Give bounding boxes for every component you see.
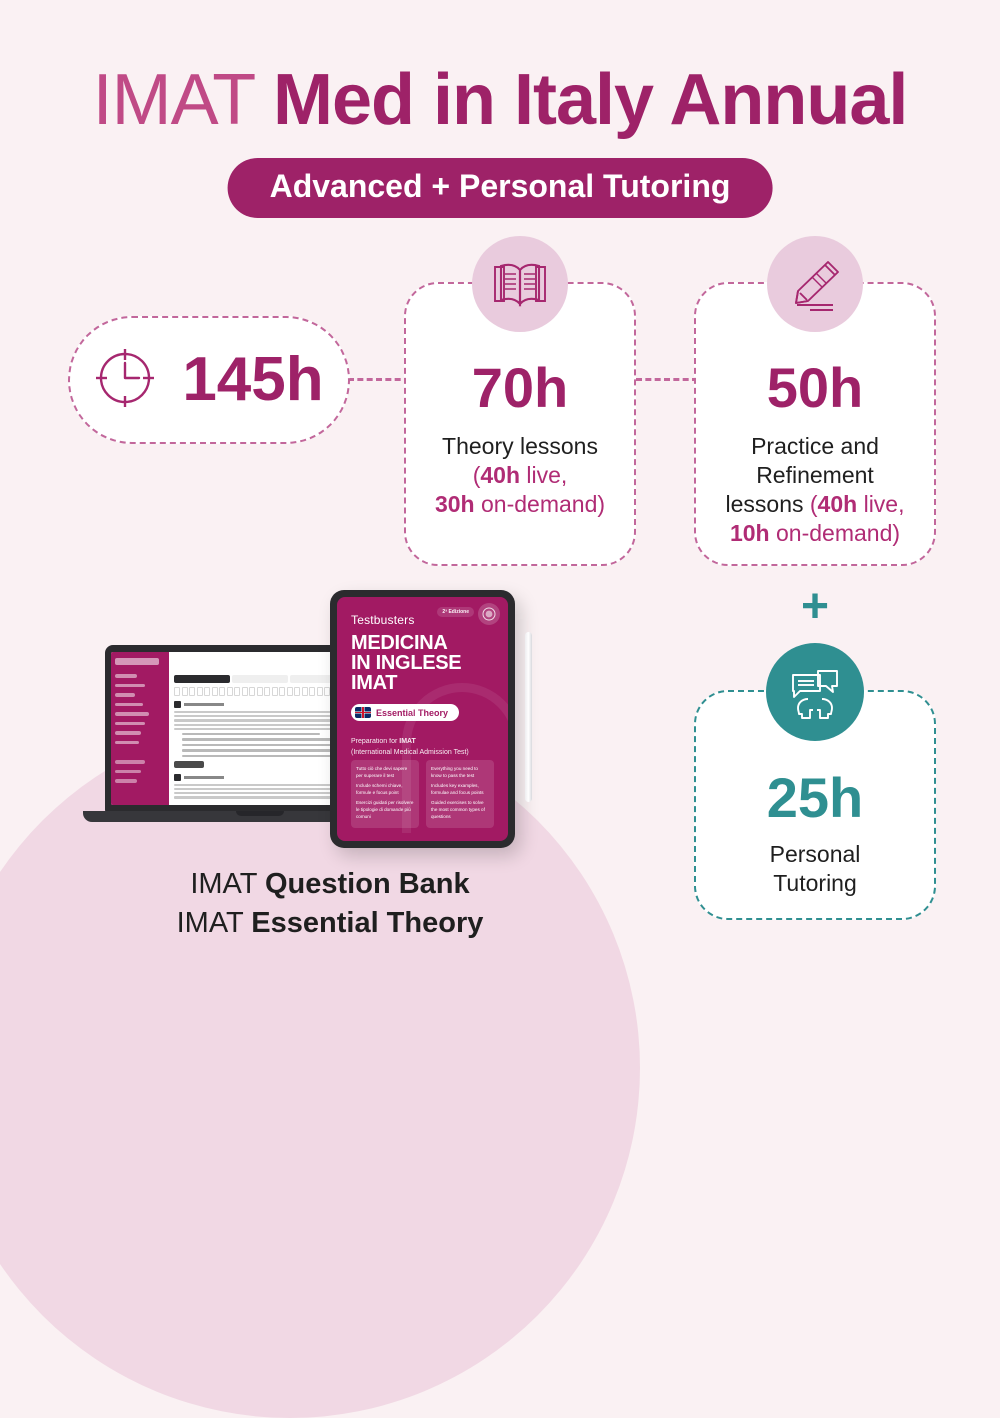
nav-item	[115, 731, 141, 735]
device-caption: IMAT Question Bank IMAT Essential Theory	[90, 865, 570, 943]
feature-item: Esercizi guidati per risolvere le tipolo…	[356, 799, 414, 820]
book-title-line1: MEDICINA	[351, 632, 448, 654]
book-prep-line2: (International Medical Admission Test)	[351, 749, 469, 756]
q	[189, 687, 195, 696]
app-nav-secondary	[115, 760, 165, 783]
card-practice-ondemand-hours: 10h	[730, 520, 770, 546]
q	[272, 687, 278, 696]
nav-item	[115, 674, 137, 678]
open-book-icon	[472, 236, 568, 332]
book-feature-box-italian: Tutto ciò che devi sapere per superare i…	[351, 760, 419, 828]
total-hours-value: 145h	[182, 349, 323, 411]
q	[227, 687, 233, 696]
subtitle-badge: Advanced + Personal Tutoring	[228, 158, 773, 218]
q	[294, 687, 300, 696]
q	[279, 687, 285, 696]
q	[309, 687, 315, 696]
nav-item	[115, 770, 141, 774]
card-practice-title-line2: Refinement	[756, 462, 874, 488]
q	[317, 687, 323, 696]
q	[302, 687, 308, 696]
infographic-canvas: IMAT Med in Italy Annual Advanced + Pers…	[0, 0, 1000, 1000]
q	[287, 687, 293, 696]
tablet-mockup: 2ª Edizione Testbusters MEDICINA IN INGL…	[330, 590, 515, 848]
card-practice-ondemand-label: on-demand)	[770, 520, 900, 546]
book-cover: 2ª Edizione Testbusters MEDICINA IN INGL…	[337, 597, 508, 841]
page-title-light: IMAT	[93, 60, 254, 140]
card-practice-lessons: 50h Practice and Refinement lessons (40h…	[694, 282, 936, 566]
book-prep-prefix: Preparation for	[351, 738, 399, 745]
book-feature-boxes: Tutto ciò che devi sapere per superare i…	[351, 760, 494, 828]
stylus-pen	[525, 632, 532, 802]
q	[249, 687, 255, 696]
book-preparation-text: Preparation for IMAT (International Medi…	[351, 736, 494, 758]
q	[257, 687, 263, 696]
q	[264, 687, 270, 696]
caption-line2-reg: IMAT	[177, 907, 252, 939]
page-title: IMAT Med in Italy Annual	[0, 58, 1000, 142]
feature-item: Guided exercises to solve the most commo…	[431, 799, 489, 820]
q	[242, 687, 248, 696]
book-prep-bold: IMAT	[399, 738, 416, 745]
nav-item	[115, 712, 149, 716]
q	[219, 687, 225, 696]
pencil-icon	[767, 236, 863, 332]
q	[212, 687, 218, 696]
tab	[232, 675, 288, 683]
tab	[174, 675, 230, 683]
nav-item	[115, 779, 137, 783]
app-logo	[115, 658, 159, 665]
card-practice-paren: (	[810, 491, 818, 517]
caption-line1-reg: IMAT	[190, 868, 265, 900]
app-sidebar	[111, 652, 169, 805]
clock-icon	[94, 347, 156, 414]
book-seal-icon	[478, 603, 500, 625]
feature-item: Include schemi chiave, formule e focus p…	[356, 782, 414, 796]
caption-line2-bold: Essential Theory	[251, 907, 483, 939]
page-title-bold: Med in Italy Annual	[273, 60, 907, 140]
app-nav-primary	[115, 674, 165, 744]
q	[204, 687, 210, 696]
plus-icon: +	[801, 583, 829, 631]
card-tutoring-hours: 25h	[696, 770, 934, 826]
book-edition-badge: 2ª Edizione	[437, 607, 474, 617]
reveal-answer-button[interactable]	[174, 761, 204, 768]
card-theory-hours: 70h	[406, 360, 634, 416]
card-practice-title-line1: Practice and	[751, 433, 879, 459]
card-practice-live-label: live,	[857, 491, 904, 517]
connector-total-to-theory	[348, 378, 410, 381]
feature-item: Tutto ciò che devi sapere per superare i…	[356, 765, 414, 779]
device-mockups: 2ª Edizione Testbusters MEDICINA IN INGL…	[90, 590, 590, 880]
card-personal-tutoring: 25h Personal Tutoring	[694, 690, 936, 920]
nav-item	[115, 741, 139, 745]
card-tutoring-description: Personal Tutoring	[696, 840, 934, 898]
card-practice-description: Practice and Refinement lessons (40h liv…	[696, 432, 934, 548]
q	[182, 687, 188, 696]
uk-flag-icon	[355, 707, 371, 718]
nav-item	[115, 722, 145, 726]
q	[174, 687, 180, 696]
tablet-frame: 2ª Edizione Testbusters MEDICINA IN INGL…	[330, 590, 515, 848]
card-practice-title-line3: lessons	[726, 491, 810, 517]
connector-theory-to-practice	[636, 378, 698, 381]
card-practice-live-hours: 40h	[818, 491, 858, 517]
laptop-trackpad-notch	[236, 811, 284, 816]
feature-item: Everything you need to know to pass the …	[431, 765, 489, 779]
card-tutoring-title-line1: Personal	[770, 841, 861, 867]
q	[234, 687, 240, 696]
nav-item	[115, 703, 143, 707]
card-theory-ondemand-label: on-demand)	[475, 491, 605, 517]
nav-item	[115, 684, 145, 688]
book-title-line2: IN INGLESE	[351, 652, 461, 674]
nav-item	[115, 693, 135, 697]
total-hours-pill: 145h	[68, 316, 350, 444]
book-title-line3: IMAT	[351, 672, 397, 694]
card-theory-ondemand-hours: 30h	[435, 491, 475, 517]
card-practice-hours: 50h	[696, 360, 934, 416]
feature-item: Includes key examples, formulae and focu…	[431, 782, 489, 796]
conversation-heads-icon	[766, 643, 864, 741]
card-theory-title: Theory lessons	[442, 433, 598, 459]
card-theory-lessons: 70h Theory lessons (40h live, 30h on-dem…	[404, 282, 636, 566]
card-tutoring-title-line2: Tutoring	[773, 870, 857, 896]
caption-line1-bold: Question Bank	[265, 868, 470, 900]
q	[197, 687, 203, 696]
card-theory-live-label: live,	[520, 462, 567, 488]
nav-item	[115, 760, 145, 764]
card-theory-description: Theory lessons (40h live, 30h on-demand)	[406, 432, 634, 519]
card-theory-live-hours: 40h	[480, 462, 520, 488]
book-feature-box-english: Everything you need to know to pass the …	[426, 760, 494, 828]
